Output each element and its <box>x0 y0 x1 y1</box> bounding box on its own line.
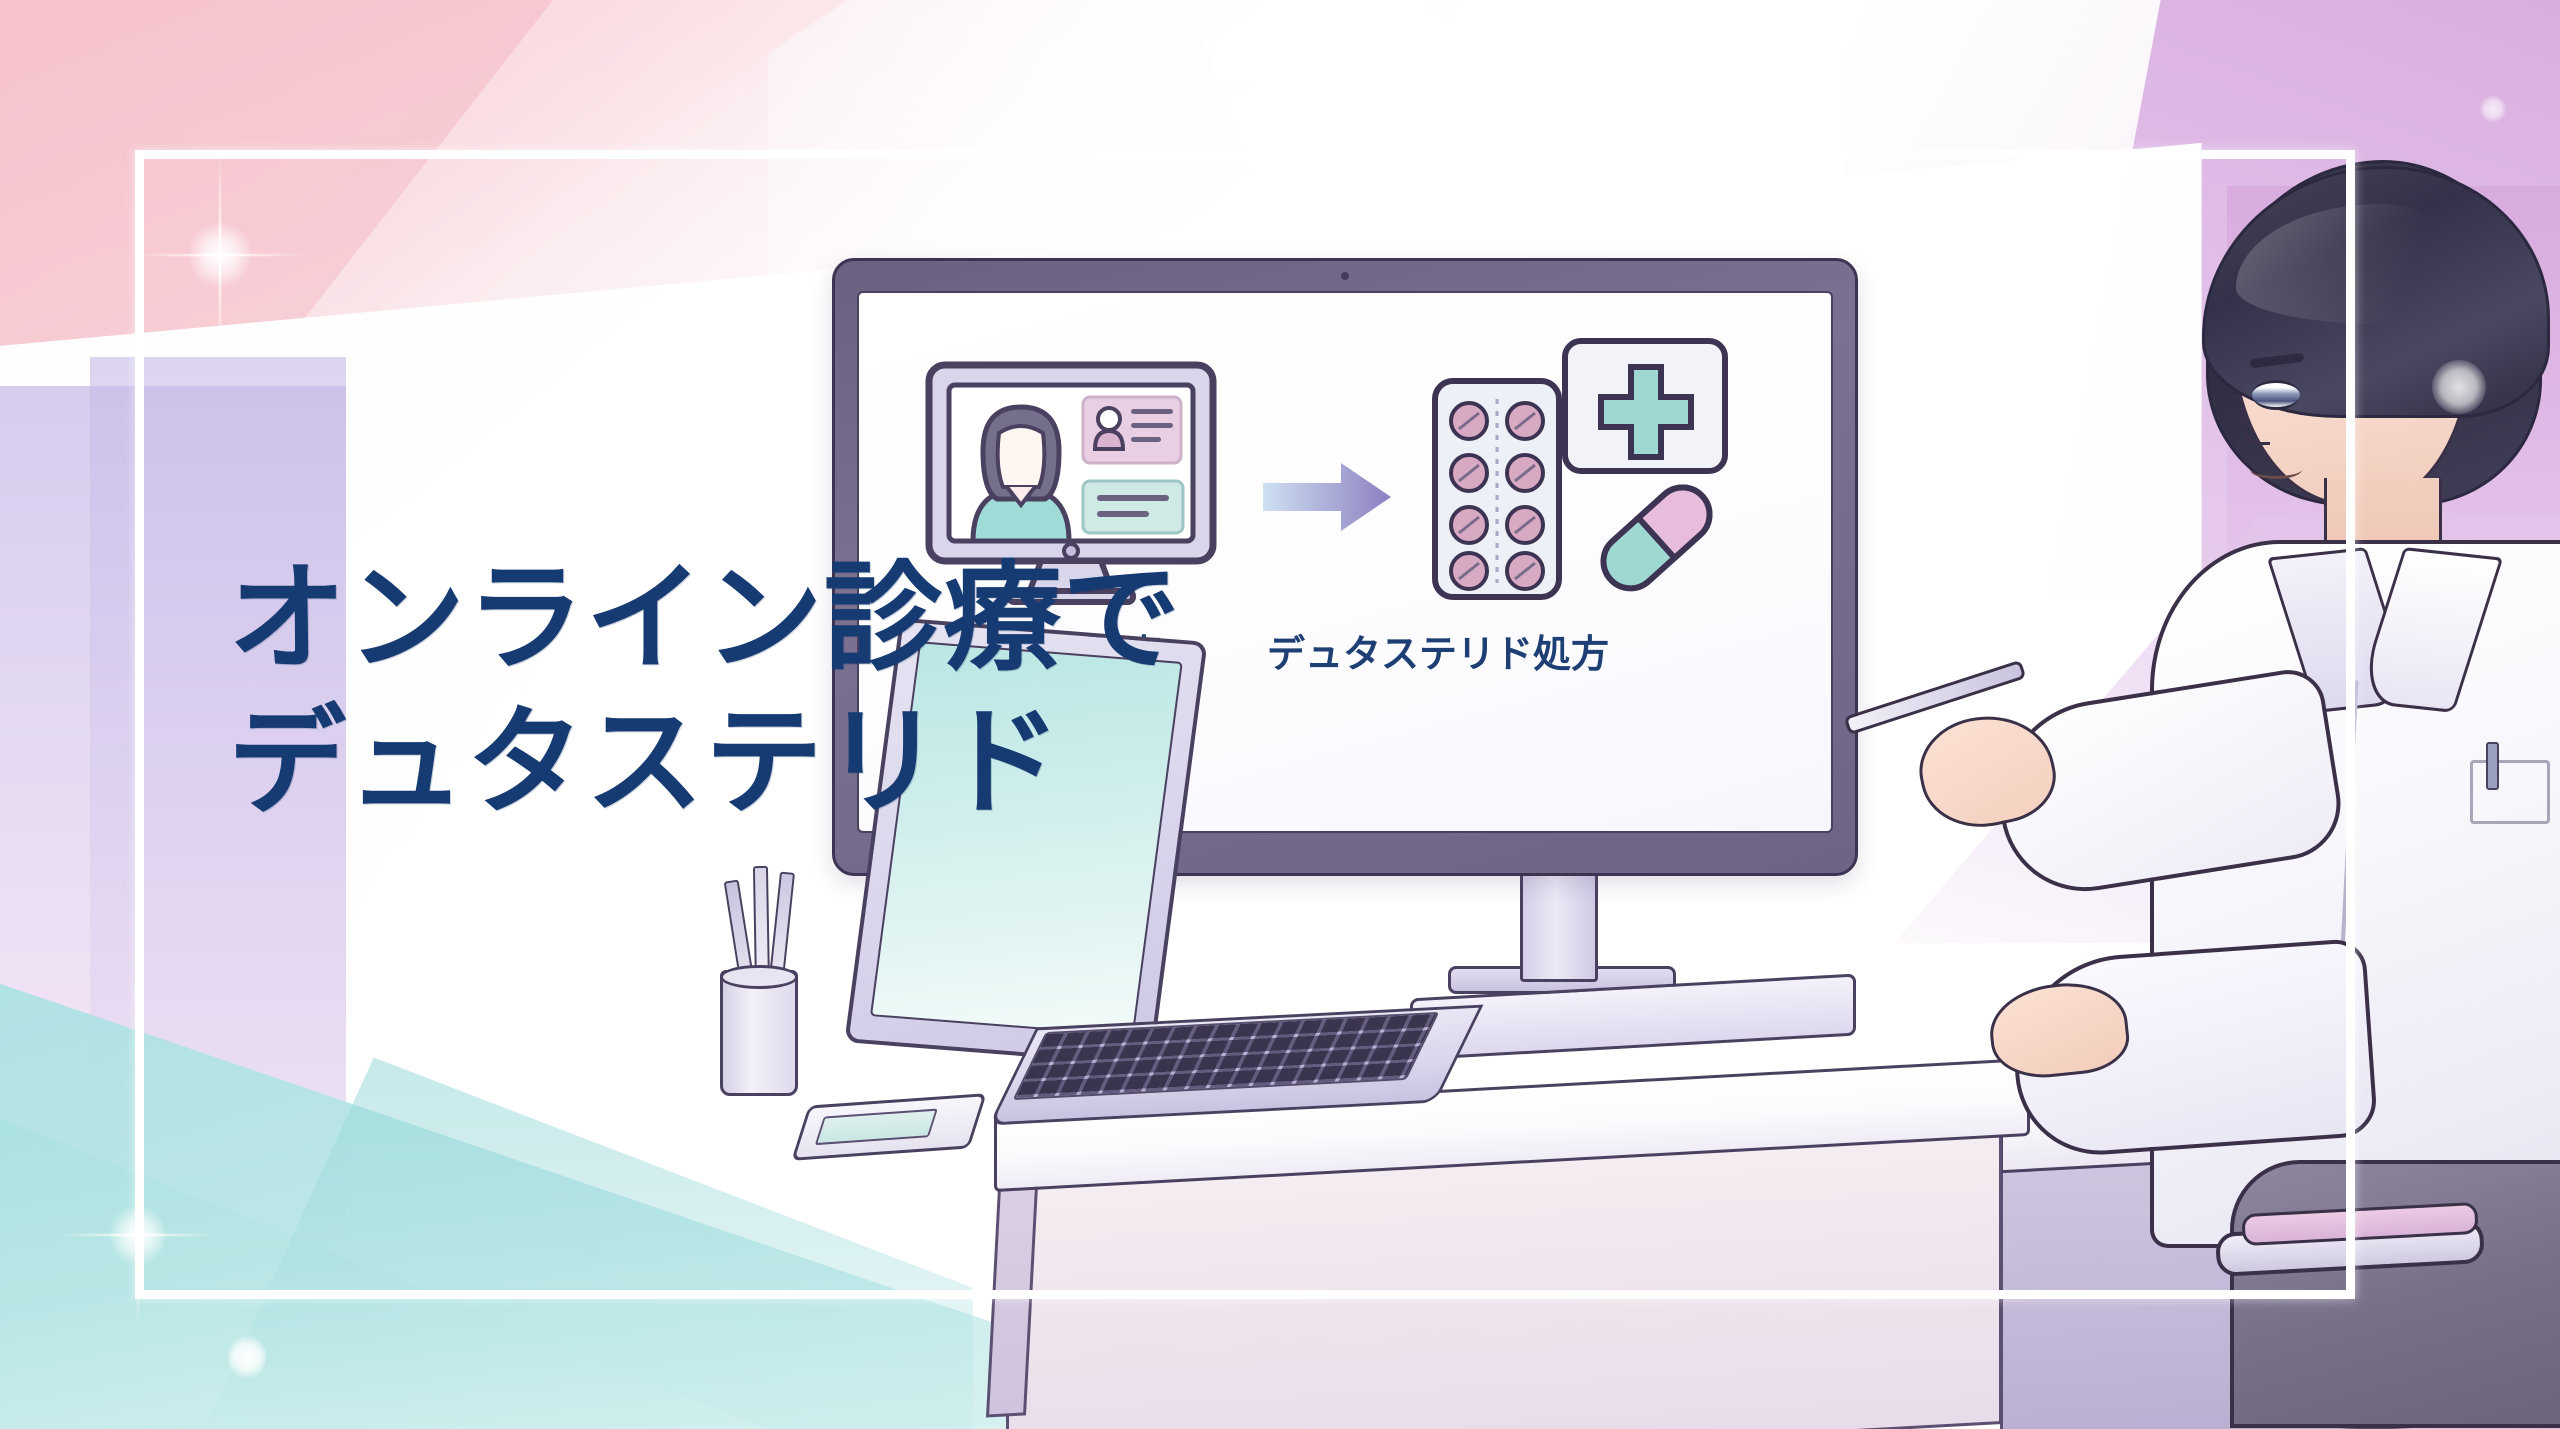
capsule-pill-icon <box>1592 476 1720 599</box>
diagram-label-dutasteride-prescription: デュタステリド処方 <box>1267 623 1609 678</box>
monitor-stand-neck <box>1520 868 1598 982</box>
headline-line-2: デュタステリド <box>228 697 1062 829</box>
webcam-icon <box>1341 272 1349 280</box>
flow-arrow-icon <box>1263 461 1391 533</box>
page-title: オンライン診療で デュタステリド <box>228 548 1181 836</box>
banner-canvas: オンライン診療 デュタステリド処方 <box>0 0 2560 1429</box>
pocket-pen-icon <box>2486 742 2499 790</box>
medication-blister-pack-icon <box>1425 337 1755 617</box>
pen-cup <box>720 970 798 1096</box>
doctor-mouth <box>2250 460 2302 479</box>
doctor-coat-pocket <box>2470 760 2550 824</box>
doctor-legs <box>2230 1160 2560 1428</box>
doctor-eye <box>2252 380 2300 410</box>
headline-line-1: オンライン診療で <box>228 553 1181 685</box>
illustration-scene: オンライン診療 デュタステリド処方 <box>980 180 2560 1429</box>
